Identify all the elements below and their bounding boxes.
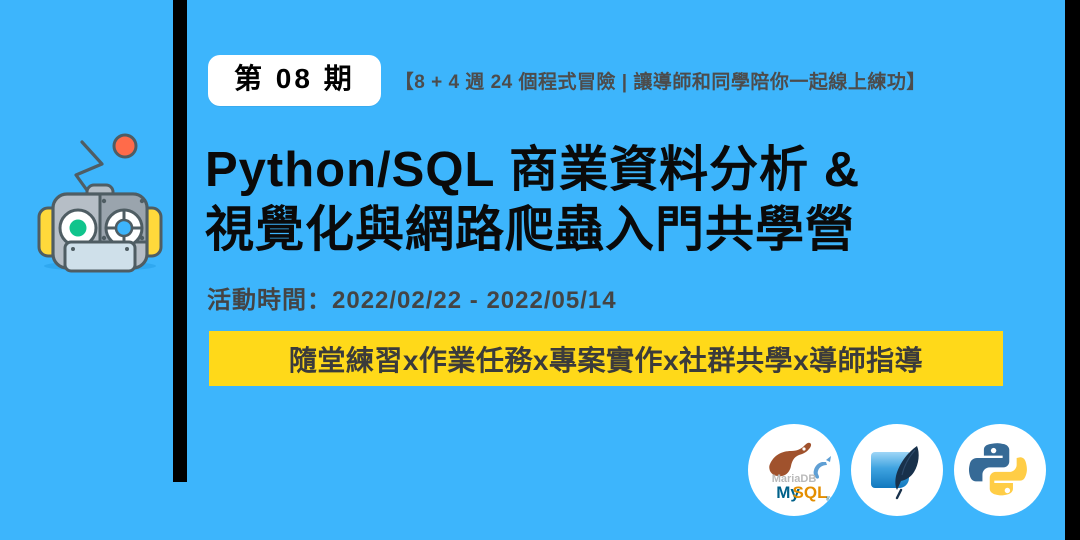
svg-text:SQL: SQL (793, 483, 828, 502)
event-time-text: 活動時間：2022/02/22 - 2022/05/14 (207, 280, 617, 315)
sqlite-logo (851, 424, 943, 516)
title-line-2: 視覺化與網路爬蟲入門共學營 (205, 201, 860, 261)
course-promo-banner: 第 08 期 【8 + 4 週 24 個程式冒險 | 讓導師和同學陪你一起線上練… (0, 0, 1080, 540)
left-vertical-rule (173, 0, 187, 482)
banner-header-row: 第 08 期 【8 + 4 週 24 個程式冒險 | 讓導師和同學陪你一起線上練… (208, 55, 926, 106)
highlight-banner-text: 隨堂練習x作業任務x專案實作x社群共學x導師指導 (289, 339, 923, 379)
page-title: Python/SQL 商業資料分析 & 視覺化與網路爬蟲入門共學營 (205, 141, 860, 261)
svg-text:®: ® (826, 496, 831, 503)
right-vertical-rule (1065, 0, 1080, 540)
banner-tagline: 【8 + 4 週 24 個程式冒險 | 讓導師和同學陪你一起線上練功】 (395, 67, 926, 94)
python-logo (954, 424, 1046, 516)
highlight-banner: 隨堂練習x作業任務x專案實作x社群共學x導師指導 (209, 331, 1003, 386)
term-badge: 第 08 期 (208, 55, 381, 106)
tech-logo-row: MariaDB My SQL ® (748, 424, 1046, 516)
mariadb-mysql-logo: MariaDB My SQL ® (748, 424, 840, 516)
robot-mascot-icon (32, 128, 168, 273)
title-line-1: Python/SQL 商業資料分析 & (205, 141, 860, 201)
